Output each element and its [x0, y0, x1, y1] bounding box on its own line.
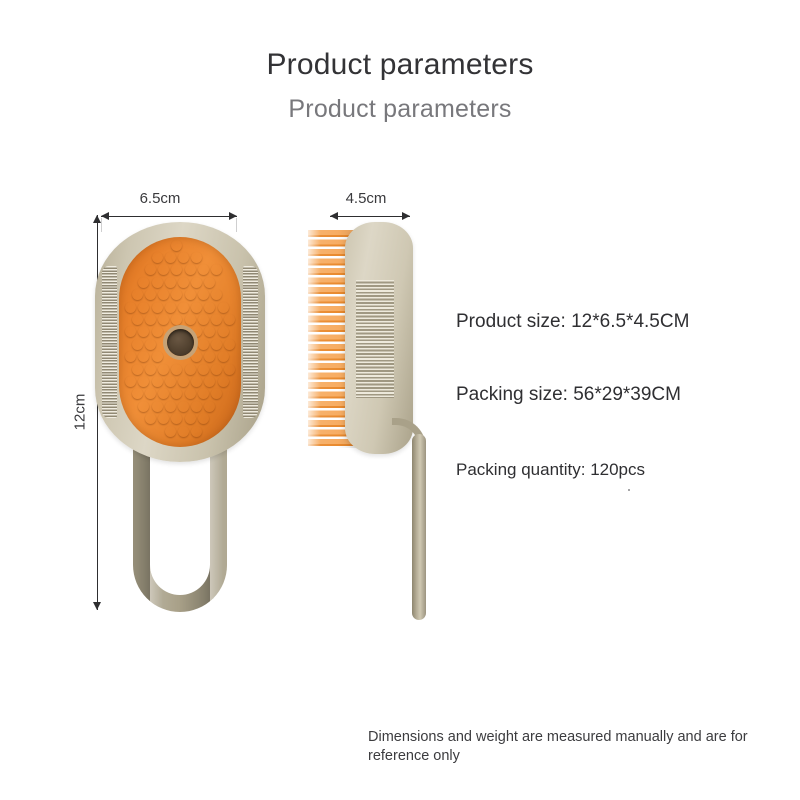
bristle-dot	[191, 252, 202, 263]
dimension-arrow-front-width	[101, 212, 237, 221]
spec-packing-size: Packing size: 56*29*39CM	[456, 384, 681, 406]
bristle-dot	[198, 339, 209, 350]
spec-packing-quantity: Packing quantity: 120pcs	[456, 460, 645, 480]
bristle-dot	[165, 376, 176, 387]
bristle-dot	[138, 401, 149, 412]
bristle-dot	[158, 388, 169, 399]
bristle-dot	[165, 426, 176, 437]
bristle-dot	[198, 388, 209, 399]
bristle-dot	[171, 388, 182, 399]
side-handle-bar	[412, 434, 426, 620]
bristle-dot	[218, 351, 229, 362]
bristle-dot	[145, 289, 156, 300]
front-brush-body	[95, 222, 265, 462]
bristle-dot	[198, 364, 209, 375]
bristle-dot	[211, 388, 222, 399]
bristle-dot	[152, 326, 163, 337]
bristle-dot	[191, 302, 202, 313]
bristle-dot	[125, 376, 136, 387]
bristle-dot	[224, 364, 235, 375]
bristle-dot	[178, 252, 189, 263]
center-hole	[167, 329, 194, 356]
bristle-dot	[224, 339, 235, 350]
bristle-dot	[171, 240, 182, 251]
bristle-dot	[204, 401, 215, 412]
page-subtitle: Product parameters	[0, 94, 800, 124]
bristle-dot	[145, 413, 156, 424]
bristle-dot	[211, 264, 222, 275]
bristle-dot	[132, 364, 143, 375]
bristle-dot	[178, 302, 189, 313]
bristle-dot	[165, 302, 176, 313]
bristle-dot	[125, 302, 136, 313]
bristle-dot	[132, 339, 143, 350]
bristle-dot	[145, 339, 156, 350]
dimension-label-front-width: 6.5cm	[140, 190, 181, 207]
bristle-dot	[204, 302, 215, 313]
bristle-dot	[145, 314, 156, 325]
side-view-brush	[300, 222, 440, 622]
bristle-dot	[198, 314, 209, 325]
comb-teeth-left	[102, 266, 117, 418]
comb-teeth-right	[243, 266, 258, 418]
bristle-dot	[152, 302, 163, 313]
front-view-brush	[95, 222, 265, 622]
bristle-dot	[218, 302, 229, 313]
bristle-dot	[158, 413, 169, 424]
bristle-dot	[191, 376, 202, 387]
bristle-dot	[185, 388, 196, 399]
footer-disclaimer: Dimensions and weight are measured manua…	[368, 728, 778, 766]
bristle-dot	[211, 314, 222, 325]
bristle-dot	[125, 326, 136, 337]
bristle-dot	[165, 252, 176, 263]
bristle-dot	[178, 426, 189, 437]
bristle-dot	[218, 376, 229, 387]
bristle-dot	[224, 314, 235, 325]
bristle-dot	[165, 401, 176, 412]
bristle-dot	[152, 252, 163, 263]
side-comb-ridges	[356, 280, 394, 398]
bristle-dot	[198, 264, 209, 275]
bristle-dot	[145, 264, 156, 275]
front-silicone-pad	[119, 237, 241, 447]
bristle-dot	[145, 364, 156, 375]
bristle-dot	[138, 326, 149, 337]
bristle-dot	[138, 277, 149, 288]
bristle-dot	[185, 314, 196, 325]
bristle-dot	[138, 351, 149, 362]
bristle-dot	[211, 289, 222, 300]
bristle-dot	[138, 376, 149, 387]
bristle-dot	[158, 314, 169, 325]
bristle-dot	[191, 401, 202, 412]
bristle-dot	[132, 314, 143, 325]
bristle-dot	[204, 376, 215, 387]
bristle-dot	[185, 413, 196, 424]
bristle-dot	[178, 401, 189, 412]
bristle-dot	[185, 289, 196, 300]
bristle-dot	[171, 289, 182, 300]
dimension-label-side-width: 4.5cm	[346, 190, 387, 207]
bristle-dot	[158, 364, 169, 375]
bristle-dot	[152, 351, 163, 362]
dimension-arrow-side-width	[330, 212, 410, 221]
bristle-dot	[132, 388, 143, 399]
bristle-dot	[191, 326, 202, 337]
bristle-dot	[171, 364, 182, 375]
bristle-dot	[152, 277, 163, 288]
arrow-head-left-icon	[101, 212, 109, 220]
bristle-dot	[171, 264, 182, 275]
bristle-dot	[191, 426, 202, 437]
bristle-dot	[185, 364, 196, 375]
arrow-head-left-icon	[330, 212, 338, 220]
bristle-dot	[125, 351, 136, 362]
spec-product-size: Product size: 12*6.5*4.5CM	[456, 311, 689, 333]
bristle-dot	[191, 277, 202, 288]
arrow-head-right-icon	[402, 212, 410, 220]
bristle-dot	[158, 289, 169, 300]
page-title: Product parameters	[0, 48, 800, 82]
bristle-dot	[185, 264, 196, 275]
bristle-dot	[132, 289, 143, 300]
bristle-dot	[204, 326, 215, 337]
bristle-dot	[145, 388, 156, 399]
bristle-dot	[152, 376, 163, 387]
bristle-dot	[178, 277, 189, 288]
product-parameters-page: Product parameters Product parameters 6.…	[0, 0, 800, 800]
bristle-dot	[191, 351, 202, 362]
bristle-dot	[204, 277, 215, 288]
arrow-line	[330, 216, 410, 217]
bristle-dot	[204, 351, 215, 362]
spec-artifact-dot	[628, 489, 630, 491]
bristle-dot	[198, 413, 209, 424]
bristle-dot	[171, 314, 182, 325]
bristle-dot	[211, 339, 222, 350]
bristle-dot	[158, 264, 169, 275]
bristle-dot	[218, 326, 229, 337]
bristle-dot	[211, 364, 222, 375]
bristle-dot	[152, 401, 163, 412]
bristle-dot	[178, 376, 189, 387]
bristle-dot	[138, 302, 149, 313]
bristle-dot	[198, 289, 209, 300]
bristle-dot	[165, 277, 176, 288]
arrow-line	[101, 216, 237, 217]
bristle-dot	[171, 413, 182, 424]
dimension-label-height: 12cm	[72, 394, 89, 431]
